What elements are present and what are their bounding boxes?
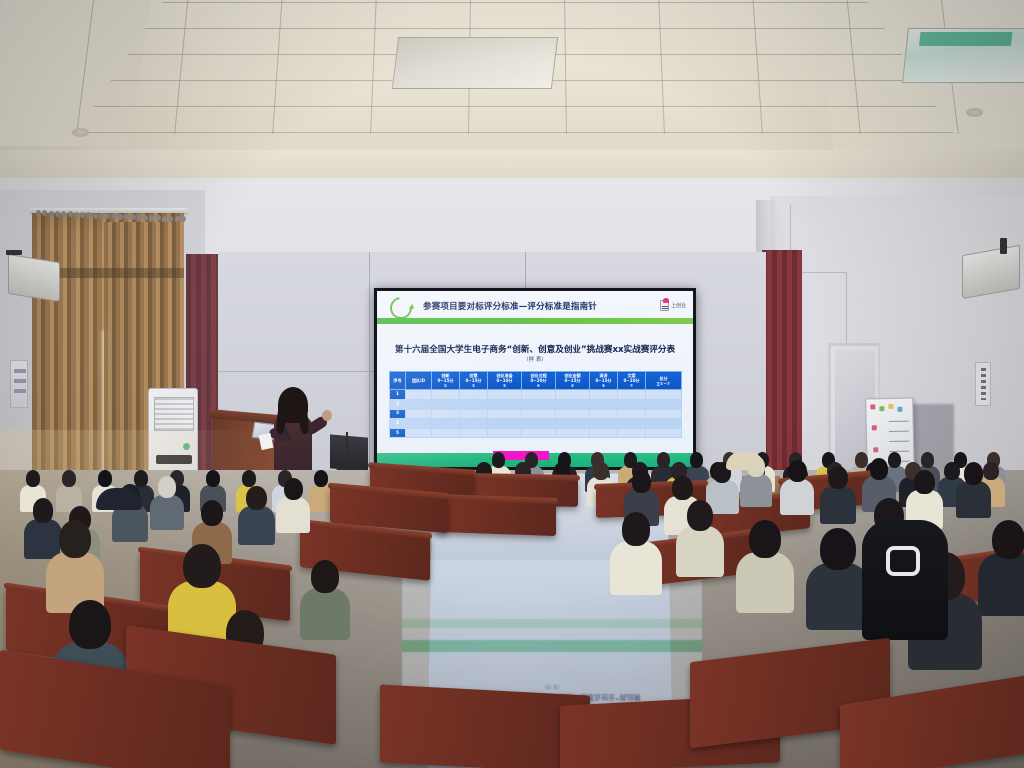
ceiling-grid-line (162, 2, 867, 3)
curtain-ring (93, 213, 98, 219)
audience-head (59, 520, 91, 558)
sticky-note (870, 404, 875, 409)
score-cell[interactable] (432, 419, 460, 429)
score-cell[interactable] (522, 390, 556, 400)
audience-head (206, 470, 221, 487)
slide-accent-bar (377, 318, 693, 324)
score-cell[interactable] (406, 399, 432, 409)
audience-head (914, 470, 934, 494)
score-col-header-line: ② (460, 383, 487, 388)
ceiling-grid-line (752, 0, 763, 134)
audience-head (183, 544, 220, 588)
score-cell[interactable] (556, 409, 590, 419)
wall-poster-left (10, 360, 28, 408)
score-col-header: 总分∑①~⑦ (646, 372, 682, 390)
score-cell[interactable] (618, 409, 646, 419)
score-cell[interactable] (522, 399, 556, 409)
score-cell[interactable] (556, 428, 590, 438)
audience-head (593, 462, 608, 480)
score-cell[interactable] (646, 399, 682, 409)
ceiling-grid-line (658, 0, 665, 134)
score-cell[interactable] (590, 399, 618, 409)
audience-body (610, 541, 662, 596)
audience-member (956, 462, 991, 517)
foreground-bench[interactable] (380, 684, 590, 768)
score-cell[interactable] (556, 399, 590, 409)
curtain-ring (99, 213, 104, 219)
speaker-mount-bracket (1000, 238, 1007, 254)
curtain-ring (49, 211, 54, 217)
score-cell[interactable] (618, 390, 646, 400)
sticky-note (879, 406, 884, 411)
score-col-header-line: ⑥ (590, 383, 617, 388)
score-cell[interactable] (406, 419, 432, 429)
audience-head (622, 512, 651, 546)
score-row-index: 5 (390, 428, 406, 438)
downlight-icon (72, 128, 89, 137)
ceiling-grid-line (94, 106, 937, 107)
audience-head (870, 458, 888, 480)
score-cell[interactable] (406, 428, 432, 438)
score-cell[interactable] (406, 390, 432, 400)
bucket-hat-icon (726, 452, 764, 470)
score-cell[interactable] (460, 390, 488, 400)
audience-head (284, 478, 303, 500)
curtain-ring (118, 214, 123, 220)
score-table-row[interactable]: 2 (390, 399, 682, 409)
audience-head (69, 600, 111, 649)
audience-head (314, 470, 329, 487)
score-col-header: 演讲0~15分⑥ (590, 372, 618, 390)
curtain-ring (175, 216, 180, 222)
lecture-hall-photo: 参赛项目要对标评分标准—评分标准是指南针 上创业 第十六届全国大学生电子商务“创… (0, 0, 1024, 768)
audience-head (828, 466, 848, 489)
score-cell[interactable] (522, 409, 556, 419)
sticky-note (897, 407, 902, 412)
audience-head (201, 500, 223, 526)
audience-head (246, 486, 266, 510)
wall-sign-right (975, 362, 991, 406)
ceiling-grid-line (564, 0, 567, 134)
score-col-header-line: ⑤ (556, 383, 589, 388)
audience-body (300, 588, 350, 641)
speaker-mount-bracket (6, 250, 22, 255)
curtain-ring (162, 216, 167, 222)
ceiling-light-panel-1 (392, 37, 558, 89)
score-cell[interactable] (618, 419, 646, 429)
mic-stand (346, 432, 348, 468)
audience-body (806, 563, 870, 630)
score-col-header: 创新0~15分① (432, 372, 460, 390)
score-cell[interactable] (618, 399, 646, 409)
slide-header: 参赛项目要对标评分标准—评分标准是指南针 上创业 (377, 296, 693, 318)
audience-member (978, 520, 1024, 613)
audience-body (820, 486, 856, 524)
audience-member (820, 466, 856, 522)
score-cell[interactable] (460, 399, 488, 409)
presenter-hand (322, 410, 332, 421)
curtain-ring (36, 210, 41, 216)
score-table-row[interactable]: 5 (390, 428, 682, 438)
score-cell[interactable] (590, 428, 618, 438)
downlight-icon (966, 108, 983, 117)
score-row-index: 4 (390, 419, 406, 429)
audience-body (978, 553, 1024, 616)
audience-body (150, 495, 184, 531)
audience-head (242, 470, 257, 487)
score-col-header-line: ⑦ (618, 383, 645, 388)
sticky-note (872, 425, 877, 430)
audience-body (740, 474, 772, 508)
wall-speaker-left (8, 254, 60, 302)
score-cell[interactable] (406, 409, 432, 419)
score-cell[interactable] (432, 409, 460, 419)
audience-head (62, 470, 77, 487)
audience-member (610, 512, 662, 593)
score-cell[interactable] (522, 428, 556, 438)
score-cell[interactable] (432, 399, 460, 409)
audience-member (736, 520, 794, 610)
ac-vent-grill (154, 397, 194, 431)
audience-head (992, 520, 1024, 559)
score-cell[interactable] (590, 419, 618, 429)
curtain-ring (131, 214, 136, 220)
ceiling-grid-line (846, 0, 861, 134)
score-col-header: 序号 (390, 372, 406, 390)
sticky-note (888, 404, 893, 409)
score-table-row[interactable]: 1 (390, 390, 682, 400)
score-cell[interactable] (556, 419, 590, 429)
score-col-header: 创意0~15分② (460, 372, 488, 390)
ceiling-grid-line (76, 132, 953, 133)
score-cell[interactable] (432, 390, 460, 400)
score-row-index: 2 (390, 399, 406, 409)
audience-head (98, 470, 113, 487)
score-cell[interactable] (590, 390, 618, 400)
audience-member-hoodie (862, 520, 948, 640)
score-col-header: 创业过程0~20分④ (522, 372, 556, 390)
audience-member (300, 560, 350, 638)
audience-head (158, 476, 177, 498)
score-col-header-line: ③ (488, 383, 521, 388)
score-cell[interactable] (556, 390, 590, 400)
ceiling-light-panel-2 (902, 28, 1024, 83)
reflection-green-bar2 (402, 619, 702, 628)
ac-control-panel (156, 455, 192, 464)
audience-body (956, 481, 991, 518)
audience-head (788, 460, 807, 482)
audience-head (687, 500, 713, 531)
score-col-header: 团队ID (406, 372, 432, 390)
audience-head (749, 520, 781, 558)
score-cell[interactable] (590, 409, 618, 419)
curtain-ring (143, 215, 148, 221)
audience-body (276, 497, 310, 533)
ceiling-grid-line (174, 0, 189, 134)
audience-head (33, 498, 54, 523)
score-cell[interactable] (646, 390, 682, 400)
audience-member (676, 500, 724, 574)
curtain-ring (74, 212, 79, 218)
score-cell[interactable] (488, 399, 522, 409)
score-col-header-line: ④ (522, 383, 555, 388)
score-cell[interactable] (488, 390, 522, 400)
curtain-ring (112, 213, 117, 219)
audience-body (780, 479, 814, 515)
audience-member (276, 478, 310, 531)
audience-head (632, 470, 651, 493)
score-table-row[interactable]: 4 (390, 419, 682, 429)
score-cell[interactable] (646, 419, 682, 429)
score-cell[interactable] (460, 419, 488, 429)
audience-body (676, 526, 724, 576)
score-col-header-line: 序号 (390, 378, 405, 383)
score-col-header: 创业金额0~15分⑤ (556, 372, 590, 390)
score-cell[interactable] (646, 409, 682, 419)
audience-body (238, 506, 275, 545)
score-row-index: 3 (390, 409, 406, 419)
slide-subtitle: （样 表） (377, 355, 693, 363)
logo-mark-icon (660, 300, 669, 311)
audience-head (820, 528, 855, 570)
ac-power-led-icon (183, 443, 190, 450)
score-row-index: 1 (390, 390, 406, 400)
score-cell[interactable] (522, 419, 556, 429)
ceiling-grid-line (370, 0, 377, 134)
curtain-ring (156, 215, 161, 221)
reflection-green-bar (402, 640, 702, 652)
score-table-header-row: 序号团队ID创新0~15分①创意0~15分②创业准备0~10分③创业过程0~20… (390, 372, 682, 390)
score-cell[interactable] (646, 428, 682, 438)
score-table: 序号团队ID创新0~15分①创意0~15分②创业准备0~10分③创业过程0~20… (389, 371, 682, 438)
score-col-header: 创业准备0~10分③ (488, 372, 522, 390)
score-cell[interactable] (488, 419, 522, 429)
backdrop-panel (218, 252, 370, 372)
slide-logo: 上创业 (660, 300, 686, 311)
score-cell[interactable] (618, 428, 646, 438)
score-table-row[interactable]: 3 (390, 409, 682, 419)
audience-member (46, 520, 104, 610)
slide-header-title: 参赛项目要对标评分标准—评分标准是指南针 (423, 300, 597, 312)
audience-head (26, 470, 41, 487)
baseball-cap-icon (96, 488, 142, 510)
audience-member (150, 476, 184, 529)
score-col-header-line: ∑①~⑦ (646, 381, 681, 386)
audience-body (736, 552, 794, 613)
hoodie-graphic-icon (886, 546, 920, 576)
audience-head (964, 462, 983, 485)
sticky-note (873, 447, 878, 452)
projection-screen-frame: 参赛项目要对标评分标准—评分标准是指南针 上创业 第十六届全国大学生电子商务“创… (374, 288, 696, 470)
score-cell[interactable] (432, 428, 460, 438)
ceiling-grid-line (272, 0, 283, 134)
slide-main-title: 第十六届全国大学生电子商务“创新、创意及创业”挑战赛xx实战赛评分表 (377, 343, 693, 355)
audience-head (311, 560, 339, 593)
score-table-body: 12345 (390, 390, 682, 438)
projection-screen: 参赛项目要对标评分标准—评分标准是指南针 上创业 第十六届全国大学生电子商务“创… (377, 291, 693, 467)
score-col-header-line: 团队ID (406, 378, 431, 383)
score-col-header-line: ① (432, 383, 459, 388)
score-cell[interactable] (488, 409, 522, 419)
audience-member (238, 486, 275, 543)
score-cell[interactable] (488, 428, 522, 438)
score-cell[interactable] (460, 428, 488, 438)
audience-member (780, 460, 814, 513)
curtain-ring (55, 211, 60, 217)
score-cell[interactable] (460, 409, 488, 419)
logo-text: 上创业 (671, 302, 686, 309)
score-col-header: 文案0~10分⑦ (618, 372, 646, 390)
audience-head (672, 476, 692, 500)
audience-member (806, 528, 870, 627)
curtain-ring (68, 211, 73, 217)
lecture-bench[interactable] (436, 498, 556, 536)
ceiling-grid-line (145, 28, 885, 29)
